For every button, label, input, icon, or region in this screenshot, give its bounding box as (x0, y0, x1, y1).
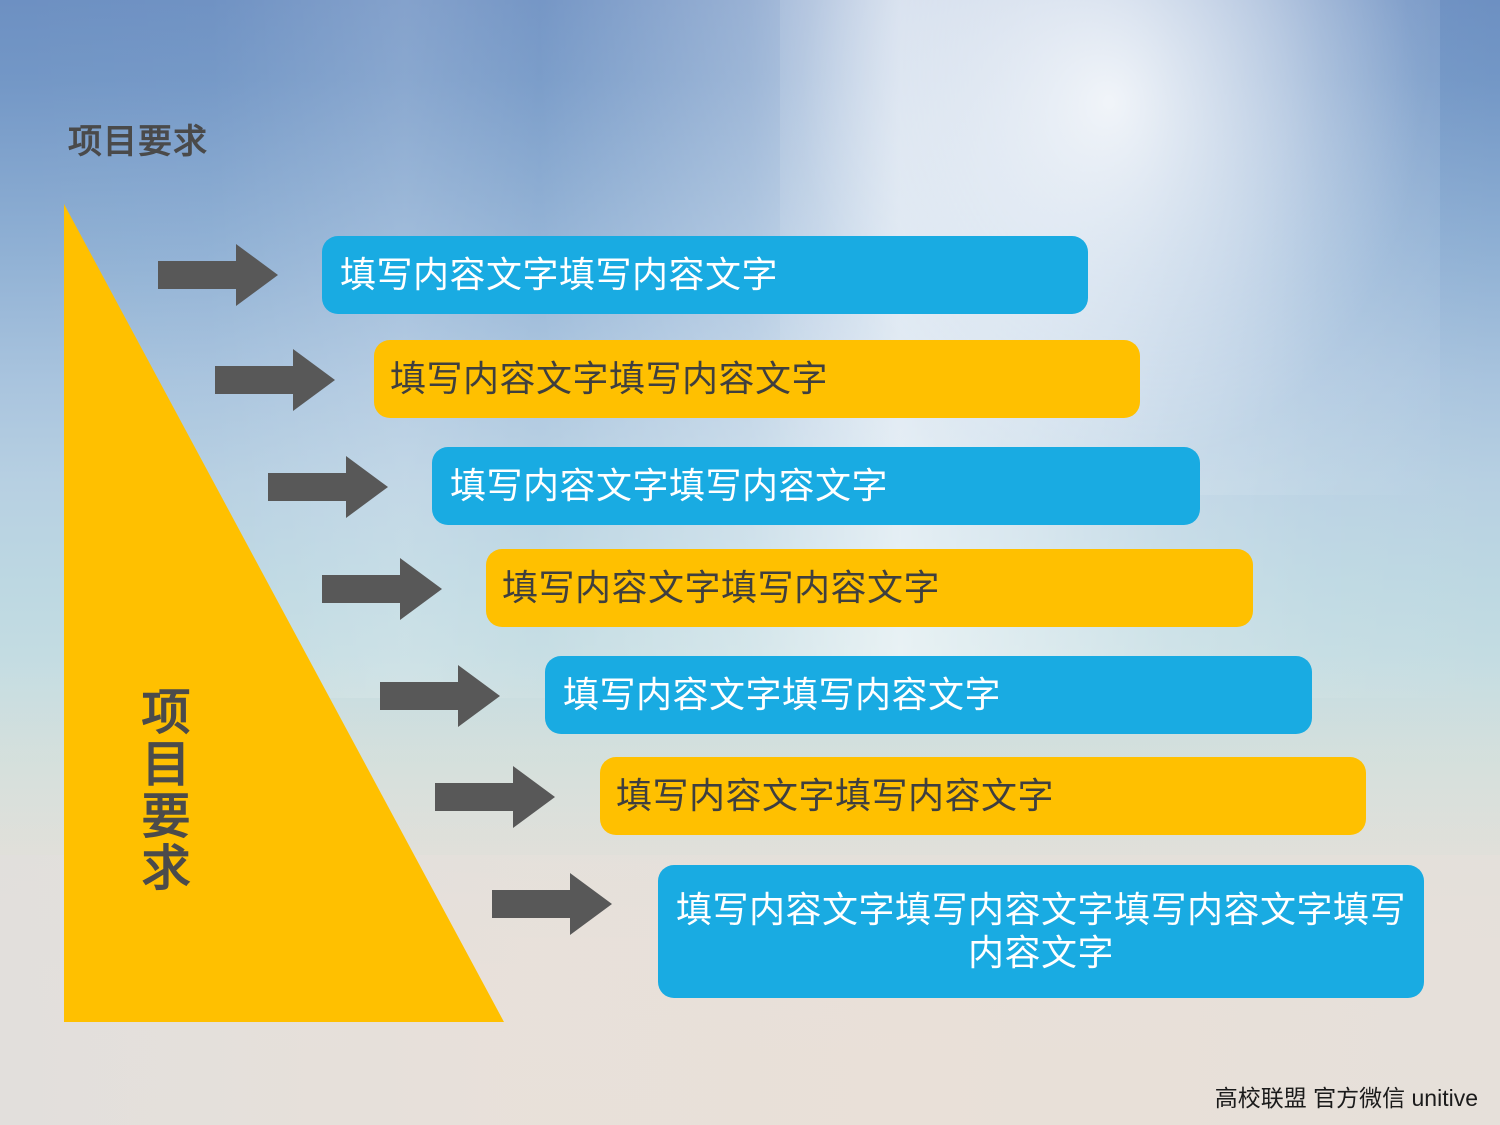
slide-canvas: 项目要求 项 目 要 求 填写内容文字填写内容文字 填写内容文字填写内容文字 (0, 0, 1500, 1125)
content-bar-7-text: 填写内容文字填写内容文字填写内容文字填写内容文字 (658, 889, 1424, 974)
triangle-vertical-label: 项 目 要 求 (133, 688, 199, 896)
content-bar-3[interactable]: 填写内容文字填写内容文字 (432, 447, 1200, 525)
right-block-arrow-5 (380, 665, 500, 727)
right-block-arrow-7 (492, 873, 612, 935)
content-bar-6-text: 填写内容文字填写内容文字 (600, 775, 1366, 817)
content-bar-5-text: 填写内容文字填写内容文字 (545, 674, 1312, 716)
right-block-arrow-1 (158, 244, 278, 306)
content-bar-1-text: 填写内容文字填写内容文字 (322, 254, 1088, 296)
right-block-arrow-6 (435, 766, 555, 828)
content-bar-5[interactable]: 填写内容文字填写内容文字 (545, 656, 1312, 734)
triangle-char-1: 项 (133, 688, 199, 740)
content-bar-1[interactable]: 填写内容文字填写内容文字 (322, 236, 1088, 314)
footer-branding: 高校联盟 官方微信 unitive (1215, 1079, 1478, 1113)
content-bar-3-text: 填写内容文字填写内容文字 (432, 465, 1200, 507)
content-bar-2-text: 填写内容文字填写内容文字 (374, 358, 1140, 400)
content-bar-2[interactable]: 填写内容文字填写内容文字 (374, 340, 1140, 418)
content-bar-6[interactable]: 填写内容文字填写内容文字 (600, 757, 1366, 835)
content-bar-4-text: 填写内容文字填写内容文字 (486, 567, 1253, 609)
triangle-char-2: 目 (133, 740, 199, 792)
right-block-arrow-3 (268, 456, 388, 518)
right-block-arrow-4 (322, 558, 442, 620)
triangle-char-3: 要 (133, 792, 199, 844)
page-title: 项目要求 (68, 114, 208, 163)
right-block-arrow-2 (215, 349, 335, 411)
content-bar-4[interactable]: 填写内容文字填写内容文字 (486, 549, 1253, 627)
triangle-char-4: 求 (133, 844, 199, 896)
content-bar-7[interactable]: 填写内容文字填写内容文字填写内容文字填写内容文字 (658, 865, 1424, 998)
